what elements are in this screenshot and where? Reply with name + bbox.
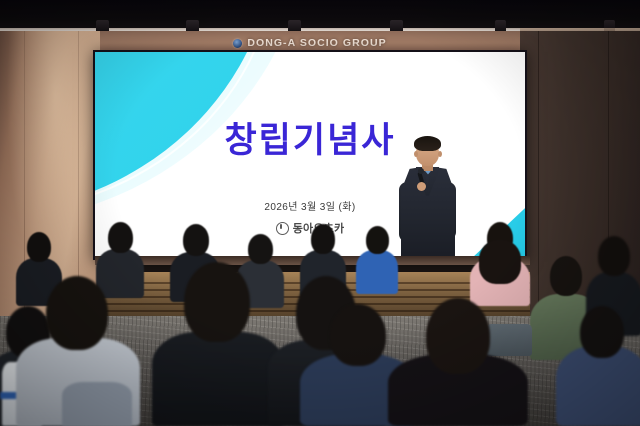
audience-head [580, 306, 624, 358]
audience-body [62, 382, 132, 426]
audience-head [183, 224, 209, 256]
audience-long-hair [479, 240, 521, 284]
presenter-ear [414, 151, 418, 157]
audience-member [152, 262, 284, 426]
audience-member [556, 306, 640, 426]
audience-body [556, 346, 640, 426]
audience-member [470, 222, 530, 306]
audience-head [598, 236, 630, 276]
wall-brand-text: DONG-A SOCIO GROUP [247, 37, 386, 49]
audience-body-black-coat [152, 332, 284, 426]
dong-a-socio-group-emblem-icon [233, 39, 242, 48]
audience-head [426, 298, 490, 374]
audience-head [248, 234, 273, 264]
audience-head [184, 262, 250, 342]
audience-head [27, 232, 51, 262]
presentation-photo: DONG-A SOCIO GROUP 창립기념사 2026년 3월 3일 (화)… [0, 0, 640, 426]
audience-head [550, 256, 582, 296]
microphone-head-icon [418, 168, 424, 174]
audience-member [388, 298, 528, 426]
seated-audience [0, 228, 640, 426]
presenter-ear [438, 151, 442, 157]
audience-head [330, 304, 386, 366]
audience-head [366, 226, 389, 254]
audience-head [311, 224, 335, 254]
audience-member [62, 364, 132, 426]
presenter-hand [417, 182, 426, 191]
audience-head [46, 276, 108, 350]
presenter-hair [414, 136, 441, 151]
audience-head [108, 222, 133, 253]
